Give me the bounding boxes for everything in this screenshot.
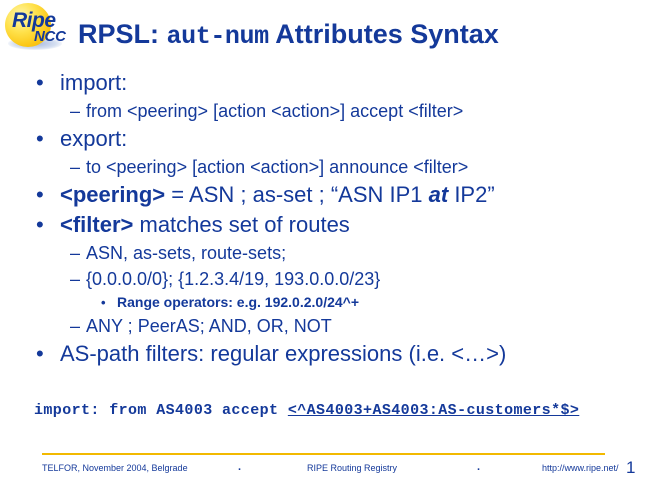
bullet-text-segment: export: (60, 126, 127, 151)
bullet-marker-icon: – (70, 98, 80, 124)
bullet-text-segment: ANY ; PeerAS; AND, OR, NOT (86, 316, 332, 336)
bullet-text-segment: to <peering> [action <action>] announce … (86, 157, 468, 177)
bullet-text-segment: IP2” (448, 182, 494, 207)
bullet-level-1: •<peering> = ASN ; as-set ; “ASN IP1 at … (0, 180, 650, 210)
bullet-text: export: (60, 126, 127, 151)
title-part-2: Attributes Syntax (269, 19, 499, 49)
bullet-marker-icon: • (36, 339, 44, 369)
bullet-text-segment: import: (60, 70, 127, 95)
slide-title: RPSL: aut-num Attributes Syntax (78, 20, 499, 50)
bullet-level-1: •export: (0, 124, 650, 154)
bullet-marker-icon: • (36, 210, 44, 240)
slide-body: •import:–from <peering> [action <action>… (0, 68, 650, 369)
bullet-level-1: •import: (0, 68, 650, 98)
bullet-level-3: •Range operators: e.g. 192.0.2.0/24^+ (0, 292, 650, 313)
bullet-text-segment: matches set of routes (133, 212, 349, 237)
bullet-text: import: (60, 70, 127, 95)
footer-separator-1: . (238, 461, 241, 473)
bullet-text: {0.0.0.0/0}; {1.2.3.4/19, 193.0.0.0/23} (86, 269, 380, 289)
bullet-level-1: •<filter> matches set of routes (0, 210, 650, 240)
bullet-text: <peering> = ASN ; as-set ; “ASN IP1 at I… (60, 182, 495, 207)
bullet-text-segment: = ASN ; as-set ; “ASN IP1 (165, 182, 428, 207)
code-plain-text: import: from AS4003 accept (34, 402, 288, 419)
footer-separator-2: . (477, 461, 480, 473)
footer-event: TELFOR, November 2004, Belgrade (42, 463, 188, 473)
bullet-text-segment: Range operators: e.g. 192.0.2.0/24^+ (117, 294, 359, 310)
bullet-text: ASN, as-sets, route-sets; (86, 243, 286, 263)
ripe-ncc-logo: Ripe NCC (2, 1, 74, 53)
title-part-1: RPSL: (78, 19, 167, 49)
bullet-text-segment: at (429, 182, 449, 207)
slide-footer: TELFOR, November 2004, Belgrade . RIPE R… (42, 461, 605, 477)
footer-topic: RIPE Routing Registry (307, 463, 397, 473)
code-example-line: import: from AS4003 accept <^AS4003+AS40… (34, 402, 579, 419)
bullet-marker-icon: – (70, 240, 80, 266)
code-underlined-regex: <^AS4003+AS4003:AS-customers*$> (288, 402, 579, 419)
bullet-text-segment: <filter> (60, 212, 133, 237)
bullet-level-1: •AS-path filters: regular expressions (i… (0, 339, 650, 369)
bullet-text-segment: AS-path filters: regular expressions (i.… (60, 341, 506, 366)
bullet-text-segment: {0.0.0.0/0}; {1.2.3.4/19, 193.0.0.0/23} (86, 269, 380, 289)
bullet-level-2: –ANY ; PeerAS; AND, OR, NOT (0, 313, 650, 339)
bullet-text: from <peering> [action <action>] accept … (86, 101, 463, 121)
bullet-text: AS-path filters: regular expressions (i.… (60, 341, 506, 366)
bullet-text: to <peering> [action <action>] announce … (86, 157, 468, 177)
logo-ncc-text: NCC (34, 29, 66, 44)
footer-url: http://www.ripe.net/ (542, 463, 619, 473)
bullet-marker-icon: • (36, 68, 44, 98)
bullet-level-2: –ASN, as-sets, route-sets; (0, 240, 650, 266)
bullet-text: <filter> matches set of routes (60, 212, 350, 237)
bullet-text: ANY ; PeerAS; AND, OR, NOT (86, 316, 332, 336)
bullet-marker-icon: • (36, 180, 44, 210)
bullet-level-2: –{0.0.0.0/0}; {1.2.3.4/19, 193.0.0.0/23} (0, 266, 650, 292)
bullet-marker-icon: – (70, 154, 80, 180)
bullet-marker-icon: – (70, 266, 80, 292)
bullet-text-segment: <peering> (60, 182, 165, 207)
page-number: 1 (626, 458, 635, 478)
bullet-marker-icon: – (70, 313, 80, 339)
bullet-marker-icon: • (101, 292, 106, 313)
bullet-level-2: –from <peering> [action <action>] accept… (0, 98, 650, 124)
bullet-text-segment: ASN, as-sets, route-sets; (86, 243, 286, 263)
title-mono-attribute: aut-num (167, 22, 269, 51)
bullet-level-2: –to <peering> [action <action>] announce… (0, 154, 650, 180)
bullet-marker-icon: • (36, 124, 44, 154)
bullet-text-segment: from <peering> [action <action>] accept … (86, 101, 463, 121)
bullet-text: Range operators: e.g. 192.0.2.0/24^+ (117, 294, 359, 310)
footer-divider (42, 453, 605, 455)
